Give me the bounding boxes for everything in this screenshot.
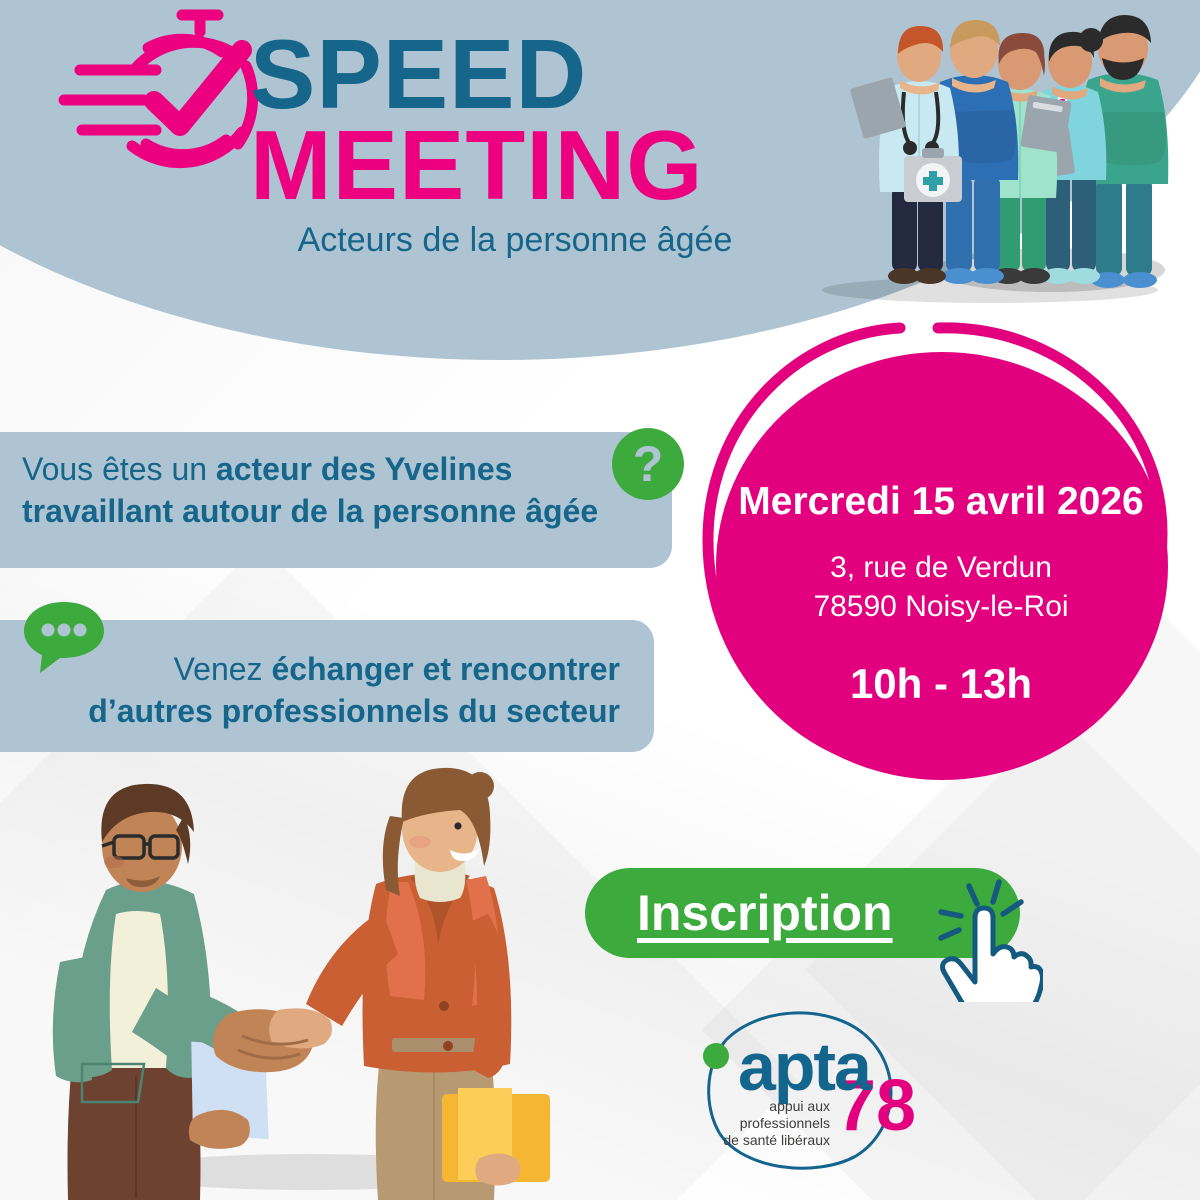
bubble-1-bold-2: travaillant autour de la personne âgée	[22, 493, 598, 529]
bubble-1-regular: Vous êtes un	[22, 451, 216, 487]
click-hand-cursor-icon[interactable]	[925, 872, 1043, 1002]
logo-wordmark: apta	[738, 1029, 873, 1105]
inscription-label: Inscription	[637, 884, 893, 942]
event-address-line2: 78590 Noisy-le-Roi	[706, 587, 1176, 626]
question-badge-icon: ?	[612, 428, 684, 500]
logo-sub-line3: de santé libéraux	[723, 1132, 830, 1148]
question-mark-glyph: ?	[633, 439, 664, 489]
handshake-two-people-illustration	[10, 762, 610, 1200]
bubble-2-bold-2: d’autres professionnels du secteur	[88, 693, 620, 729]
chat-bubble-icon	[20, 600, 108, 676]
logo-sub-line1: appui aux	[769, 1098, 830, 1114]
brand-title-block: SPEED MEETING Acteurs de la personne âgé…	[250, 28, 770, 260]
bubble-question: Vous êtes un acteur des Yvelines travail…	[0, 432, 672, 568]
bubble-2-regular: Venez	[174, 651, 272, 687]
event-details: Mercredi 15 avril 2026 3, rue de Verdun …	[706, 480, 1176, 708]
bubble-2-bold-1: échanger et rencontrer	[271, 651, 620, 687]
header-tagline: Acteurs de la personne âgée	[250, 221, 770, 260]
poster-root: SPEED MEETING Acteurs de la personne âgé…	[0, 0, 1200, 1200]
header: SPEED MEETING Acteurs de la personne âgé…	[0, 0, 780, 320]
logo-sub-line2: professionnels	[740, 1115, 830, 1131]
apta78-logo: 78 apta appui aux professionnels de sant…	[668, 998, 936, 1173]
bubble-1-bold-1: acteur des Yvelines	[216, 451, 512, 487]
event-address: 3, rue de Verdun 78590 Noisy-le-Roi	[706, 548, 1176, 626]
event-time: 10h - 13h	[706, 660, 1176, 708]
title-meeting: MEETING	[250, 117, 770, 213]
event-date: Mercredi 15 avril 2026	[706, 480, 1176, 524]
event-address-line1: 3, rue de Verdun	[706, 548, 1176, 587]
title-speed: SPEED	[250, 28, 770, 121]
healthcare-team-illustration	[800, 0, 1190, 305]
